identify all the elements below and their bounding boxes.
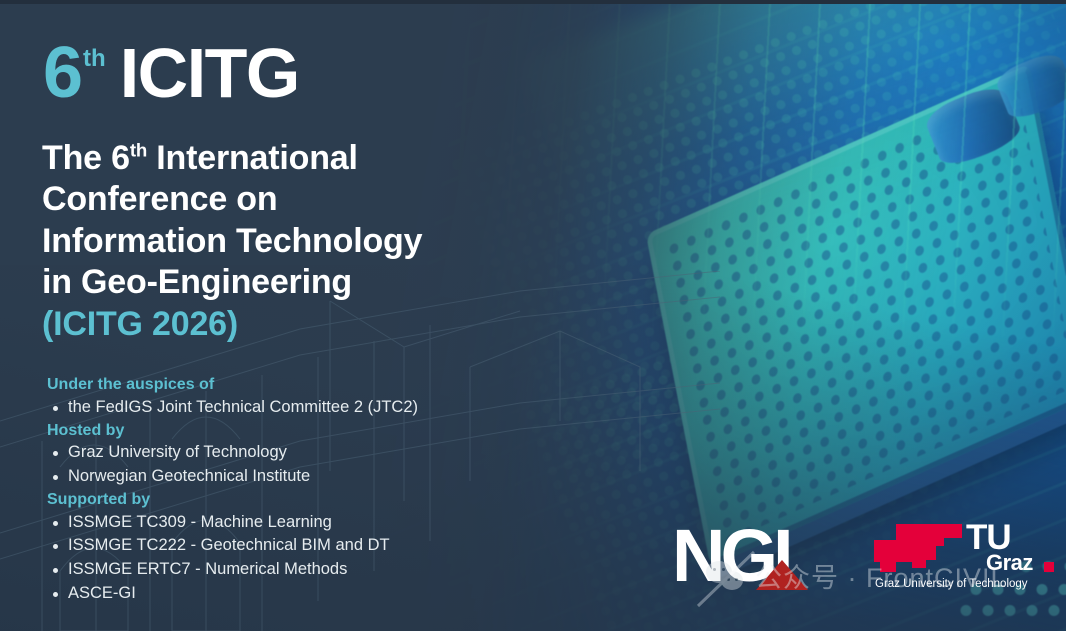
tu-graz-subtitle: Graz University of Technology xyxy=(875,578,1028,590)
title-line-1-b: International xyxy=(147,139,358,177)
tu-graz-pixel-mark xyxy=(874,524,962,572)
section-heading-auspices: Under the auspices of xyxy=(47,374,517,396)
sponsor-logos: NGI TU Graz Graz University of Tech xyxy=(672,520,1060,598)
icitg-wordmark: 6 th ICITG xyxy=(43,37,299,109)
title-line-1-a: The 6 xyxy=(42,139,130,177)
list-item: ISSMGE TC222 - Geotechnical BIM and DT xyxy=(51,534,517,558)
tu-graz-city: Graz xyxy=(986,552,1033,574)
title-ordinal-suffix: th xyxy=(130,140,147,161)
list-item: the FedIGS Joint Technical Committee 2 (… xyxy=(51,396,517,420)
list-item: ISSMGE ERTC7 - Numerical Methods xyxy=(51,558,517,582)
title-line-4: in Geo-Engineering xyxy=(42,263,352,301)
list-auspices: the FedIGS Joint Technical Committee 2 (… xyxy=(51,396,517,420)
list-item: ISSMGE TC309 - Machine Learning xyxy=(51,511,517,535)
section-heading-supported-by: Supported by xyxy=(47,489,517,511)
tu-graz-logo: TU Graz Graz University of Technology xyxy=(874,520,1060,596)
wordmark-ordinal-suffix: th xyxy=(83,47,106,71)
title-line-2: Conference on xyxy=(42,180,277,218)
list-supporters: ISSMGE TC309 - Machine Learning ISSMGE T… xyxy=(51,511,517,607)
poster-content: 6 th ICITG The 6th International Confere… xyxy=(0,0,1066,631)
list-item: Graz University of Technology xyxy=(51,441,517,465)
wordmark-acronym: ICITG xyxy=(120,38,299,108)
wordmark-ordinal: 6 xyxy=(43,37,82,109)
tu-graz-dot-mark xyxy=(1044,562,1054,572)
conference-poster: 6 th ICITG The 6th International Confere… xyxy=(0,0,1066,631)
ngi-arrow-mark xyxy=(756,560,808,590)
list-hosts: Graz University of Technology Norwegian … xyxy=(51,441,517,489)
title-acronym-year: (ICITG 2026) xyxy=(42,304,512,345)
section-heading-hosted-by: Hosted by xyxy=(47,420,517,442)
organisers-info: Under the auspices of the FedIGS Joint T… xyxy=(47,374,517,606)
page-title: The 6th International Conference on Info… xyxy=(42,138,512,345)
list-item: ASCE-GI xyxy=(51,582,517,606)
title-line-3: Information Technology xyxy=(42,222,422,260)
ngi-logo: NGI xyxy=(672,520,848,598)
list-item: Norwegian Geotechnical Institute xyxy=(51,465,517,489)
